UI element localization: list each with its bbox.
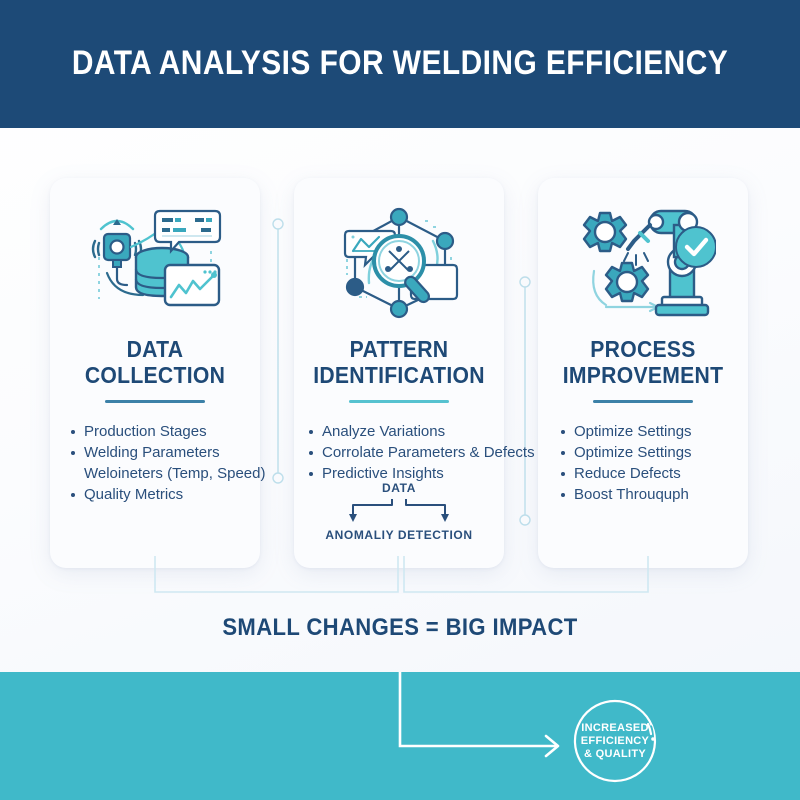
flow-top-label: DATA (294, 481, 504, 495)
card-title-line1: PROCESS (590, 336, 695, 362)
card-title-line2: COLLECTION (85, 362, 225, 388)
card-title-underline (105, 400, 205, 403)
card-title-underline (349, 400, 449, 403)
card-bullet-list: Analyze Variations Corrolate Parameters … (308, 422, 535, 485)
database-sensor-chart-icon (50, 196, 260, 326)
list-item: Corrolate Parameters & Defects (308, 443, 535, 463)
tagline: SMALL CHANGES = BIG IMPACT (32, 614, 768, 642)
card-data-collection[interactable]: DATA COLLECTION Production Stages Weldin… (50, 178, 260, 568)
badge-line2: EFFICIENCY (581, 735, 649, 747)
list-item: Welding Parameters (70, 443, 265, 463)
list-item: Quality Metrics (70, 485, 265, 505)
connector-card1-card2 (271, 218, 285, 484)
anomaly-flow-diagram: DATA ANOMALIY DETECTION (294, 481, 504, 542)
bottom-bracket-connectors (0, 556, 800, 600)
list-item: Analyze Variations (308, 422, 535, 442)
card-title: DATA COLLECTION (58, 336, 251, 388)
flow-bottom-label: ANOMALIY DETECTION (294, 528, 504, 542)
card-bullet-list: Production Stages Welding Parameters Wel… (70, 422, 265, 506)
badge-text: INCREASED EFFICIENCY & QUALITY (572, 722, 658, 761)
flow-bracket-arrows-icon (335, 497, 463, 527)
infographic-page: DATA ANALYSIS FOR WELDING EFFICIENCY (0, 0, 800, 800)
card-title: PROCESS IMPROVEMENT (546, 336, 739, 388)
badge-line1: INCREASED (581, 722, 649, 734)
outcome-badge: INCREASED EFFICIENCY & QUALITY (572, 698, 658, 784)
page-title: DATA ANALYSIS FOR WELDING EFFICIENCY (48, 44, 752, 83)
footer-arrow-icon (0, 672, 800, 800)
list-item: Optimize Settings (560, 443, 692, 463)
card-title: PATTERN IDENTIFICATION (302, 336, 495, 388)
card-title-line1: PATTERN (350, 336, 449, 362)
robot-arm-gears-check-icon (538, 196, 748, 326)
card-pattern-identification[interactable]: PATTERN IDENTIFICATION Analyze Variation… (294, 178, 504, 568)
list-item: Weloineters (Temp, Speed) (70, 464, 265, 484)
card-title-line1: DATA (127, 336, 184, 362)
network-magnifier-icon (294, 196, 504, 326)
card-bullet-list: Optimize Settings Optimize Settings Redu… (560, 422, 692, 506)
card-title-line2: IDENTIFICATION (313, 362, 485, 388)
list-item: Boost Throuquph (560, 485, 692, 505)
card-process-improvement[interactable]: PROCESS IMPROVEMENT Optimize Settings Op… (538, 178, 748, 568)
list-item: Optimize Settings (560, 422, 692, 442)
card-title-underline (593, 400, 693, 403)
footer-band (0, 672, 800, 800)
list-item: Reduce Defects (560, 464, 692, 484)
list-item: Production Stages (70, 422, 265, 442)
connector-card2-card3 (518, 276, 532, 526)
badge-line3: & QUALITY (584, 748, 646, 760)
card-title-line2: IMPROVEMENT (563, 362, 724, 388)
